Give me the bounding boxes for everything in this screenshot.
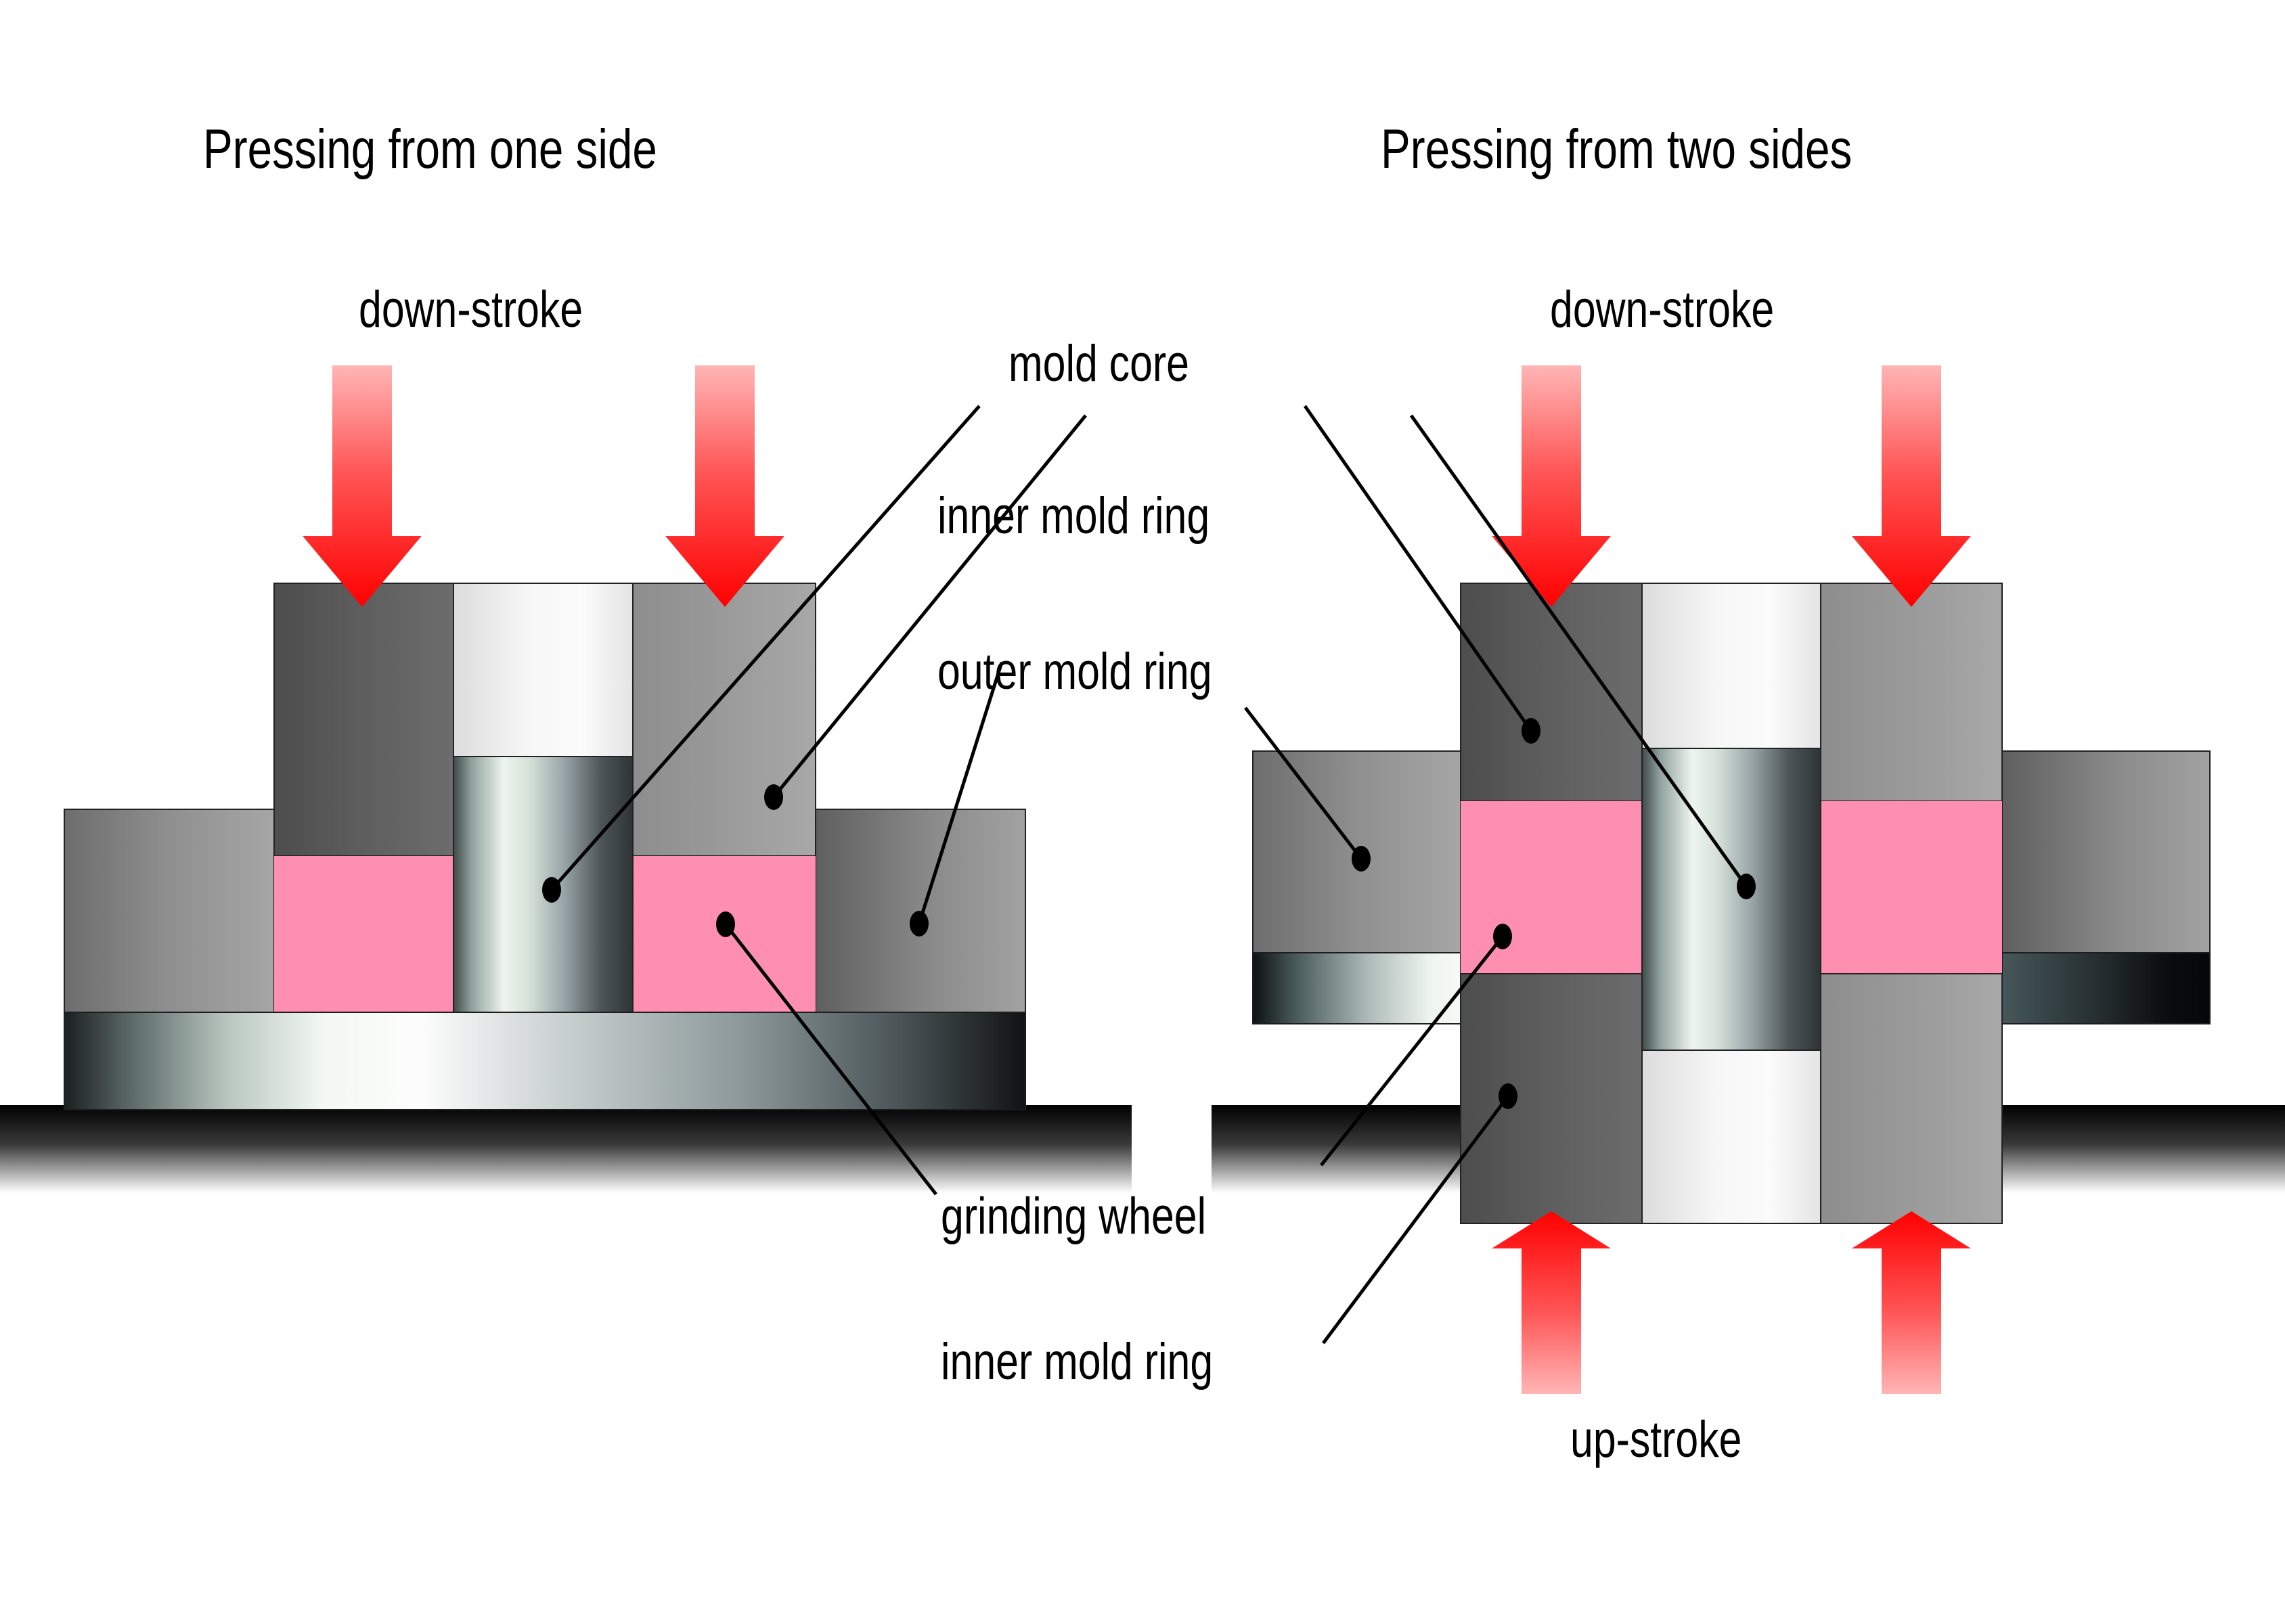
- up-arrow-icon-right: [1852, 1211, 1971, 1394]
- callout-label-grinding-wheel: grinding wheel: [941, 1191, 1206, 1242]
- base-plate: [64, 1012, 1025, 1110]
- inner-mold-ring-right-punch-2: [1821, 583, 2002, 801]
- callout-dots-right: [1352, 718, 1756, 1109]
- inner-mold-ring-right-lower-punch-2: [1821, 974, 2002, 1223]
- down-arrow-icon-right: [665, 365, 784, 607]
- leader-inner-mold-ring: [774, 415, 1086, 797]
- inner-mold-ring-left-lower-punch-2: [1461, 974, 1642, 1223]
- ground-shadow-2: [1212, 1105, 2285, 1193]
- leader-dot-icon-inner-mold-ring-3: [1499, 1083, 1517, 1109]
- callout-label-outer-mold-ring: outer mold ring: [937, 646, 1212, 698]
- outer-mold-ring-right: [816, 809, 1025, 1012]
- down-arrow-icon-right-2: [1852, 365, 1971, 607]
- leader-grinding-wheel: [726, 924, 936, 1194]
- down-stroke-label-left: down-stroke: [359, 284, 583, 336]
- up-stroke-label: up-stroke: [1570, 1414, 1742, 1466]
- inner-mold-ring-right-punch: [633, 583, 816, 856]
- leader-mold-core: [552, 406, 979, 890]
- leader-dot-icon-outer-mold-ring-2: [1352, 846, 1371, 872]
- leader-inner-mold-ring-3: [1323, 1096, 1508, 1343]
- leader-dot-icon-grinding-wheel-2: [1493, 924, 1512, 949]
- panel-title-one-side: Pressing from one side: [203, 122, 657, 177]
- leader-dot-icon-mold-core: [542, 877, 561, 903]
- grinding-wheel-right: [633, 856, 816, 1012]
- leader-dot-icon-outer-mold-ring: [910, 911, 929, 937]
- inner-mold-ring-left-punch: [274, 583, 453, 856]
- leader-grinding-wheel-2: [1321, 937, 1503, 1165]
- leader-outer-mold-ring-2: [1245, 708, 1361, 859]
- base-plate-right-2: [2002, 953, 2210, 1024]
- grinding-wheel-left-2: [1461, 801, 1642, 974]
- diagram-canvas: Pressing from one side Pressing from two…: [0, 0, 2285, 1624]
- callout-leaders-right: [1245, 406, 1746, 1343]
- mold-core-upper-2: [1642, 583, 1821, 748]
- leader-dot-icon-mold-core-2: [1522, 718, 1540, 744]
- callout-label-inner-mold-ring: inner mold ring: [937, 491, 1210, 542]
- panel-title-two-sides: Pressing from two sides: [1381, 122, 1852, 177]
- outer-mold-ring-left-2: [1253, 751, 1461, 953]
- mold-core-shaft-2: [1642, 748, 1821, 1050]
- inner-mold-ring-left-punch-2: [1461, 583, 1642, 801]
- down-arrow-icon-left-2: [1492, 365, 1611, 607]
- leader-inner-mold-ring-2: [1411, 415, 1746, 886]
- ground-shadow: [0, 1105, 1132, 1193]
- outer-mold-ring-left: [64, 809, 274, 1012]
- mold-core-lower-2: [1642, 1050, 1821, 1223]
- callout-label-mold-core: mold core: [1008, 338, 1189, 390]
- panel-two-sides-artwork: [1212, 365, 2285, 1394]
- outer-mold-ring-right-2: [2002, 751, 2210, 953]
- grinding-wheel-left: [274, 856, 453, 1012]
- leader-dot-icon-grinding-wheel: [716, 911, 735, 937]
- leader-dot-icon-inner-mold-ring-2: [1737, 874, 1756, 899]
- base-plate-left-2: [1253, 953, 1461, 1024]
- callout-label-inner-mold-ring-2: inner mold ring: [941, 1336, 1213, 1388]
- leader-dot-icon-inner-mold-ring: [764, 784, 783, 810]
- down-arrow-icon-left: [303, 365, 422, 607]
- leader-outer-mold-ring: [919, 662, 1002, 924]
- mold-core-upper: [453, 583, 633, 757]
- up-arrow-icon-left: [1492, 1211, 1611, 1394]
- leader-mold-core-2: [1305, 406, 1531, 731]
- mold-core-shaft: [453, 757, 633, 1012]
- grinding-wheel-right-2: [1821, 801, 2002, 974]
- callout-dots-left: [542, 784, 929, 937]
- down-stroke-label-right: down-stroke: [1550, 284, 1774, 336]
